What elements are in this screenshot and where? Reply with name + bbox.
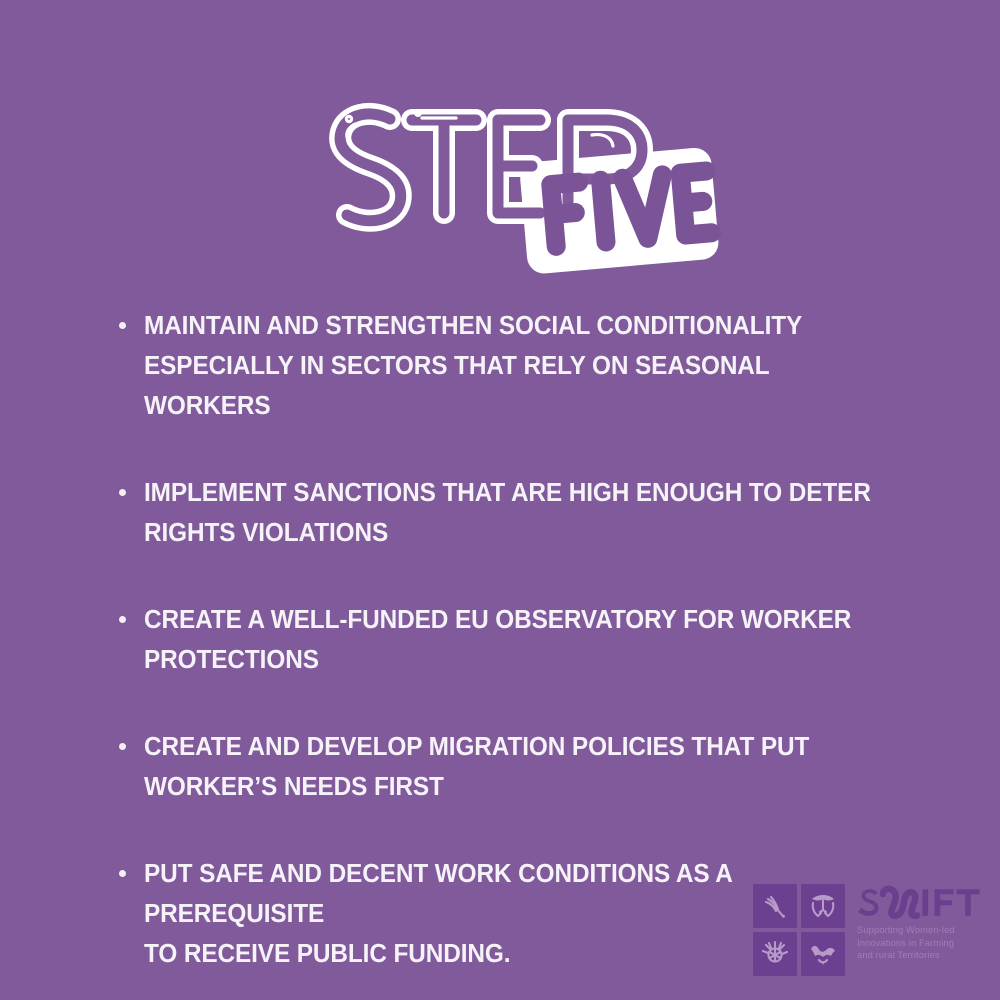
list-item-text: CREATE A WELL-FUNDED EU OBSERVATORY FOR … [144,600,883,680]
logo-tile-cow [801,932,845,976]
list-item-text: MAINTAIN AND STRENGTHEN SOCIAL CONDITION… [144,306,883,426]
slide-canvas: MAINTAIN AND STRENGTHEN SOCIAL CONDITION… [0,0,1000,1000]
bullet-dot-icon [119,489,126,496]
hands-holding-plant-icon [807,891,839,921]
list-item-text: IMPLEMENT SANCTIONS THAT ARE HIGH ENOUGH… [144,473,883,553]
bullet-dot-icon [119,870,126,877]
list-item: CREATE AND DEVELOP MIGRATION POLICIES TH… [118,727,918,807]
list-item-text: CREATE AND DEVELOP MIGRATION POLICIES TH… [144,727,883,807]
step-letter-t [412,111,476,213]
swift-logo-text: Supporting Women-led Innovations in Farm… [857,884,981,962]
step-heading [0,78,1000,293]
bullet-dot-icon [119,743,126,750]
step-letter-s [340,114,401,221]
swift-tagline: Supporting Women-led Innovations in Farm… [857,924,981,962]
list-item: MAINTAIN AND STRENGTHEN SOCIAL CONDITION… [118,306,918,426]
wheat-stalk-icon [760,891,790,921]
swift-wordmark [857,885,981,919]
logo-tile-sunflower [753,932,797,976]
list-item: IMPLEMENT SANCTIONS THAT ARE HIGH ENOUGH… [118,473,918,553]
sunflower-icon [760,939,790,969]
bullet-dot-icon [119,322,126,329]
swift-logo-mark [753,884,845,976]
swift-logo: Supporting Women-led Innovations in Farm… [753,884,983,976]
cow-head-icon [807,939,839,969]
step-title-graphic [318,78,718,293]
logo-tile-hands-plant [801,884,845,928]
logo-tile-wheat [753,884,797,928]
bullet-dot-icon [119,616,126,623]
recommendation-list: MAINTAIN AND STRENGTHEN SOCIAL CONDITION… [118,306,918,974]
list-item: CREATE A WELL-FUNDED EU OBSERVATORY FOR … [118,600,918,680]
